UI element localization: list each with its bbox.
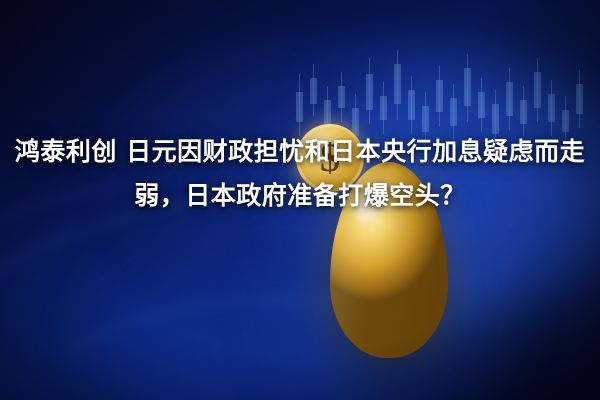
news-banner-image: $ 鸿泰利创 日元因财政担忧和日本央行加息疑虑而走弱，日本政府准备打爆空头？ (0, 0, 600, 400)
headline-text: 鸿泰利创 日元因财政担忧和日本央行加息疑虑而走弱，日本政府准备打爆空头？ (0, 130, 600, 218)
